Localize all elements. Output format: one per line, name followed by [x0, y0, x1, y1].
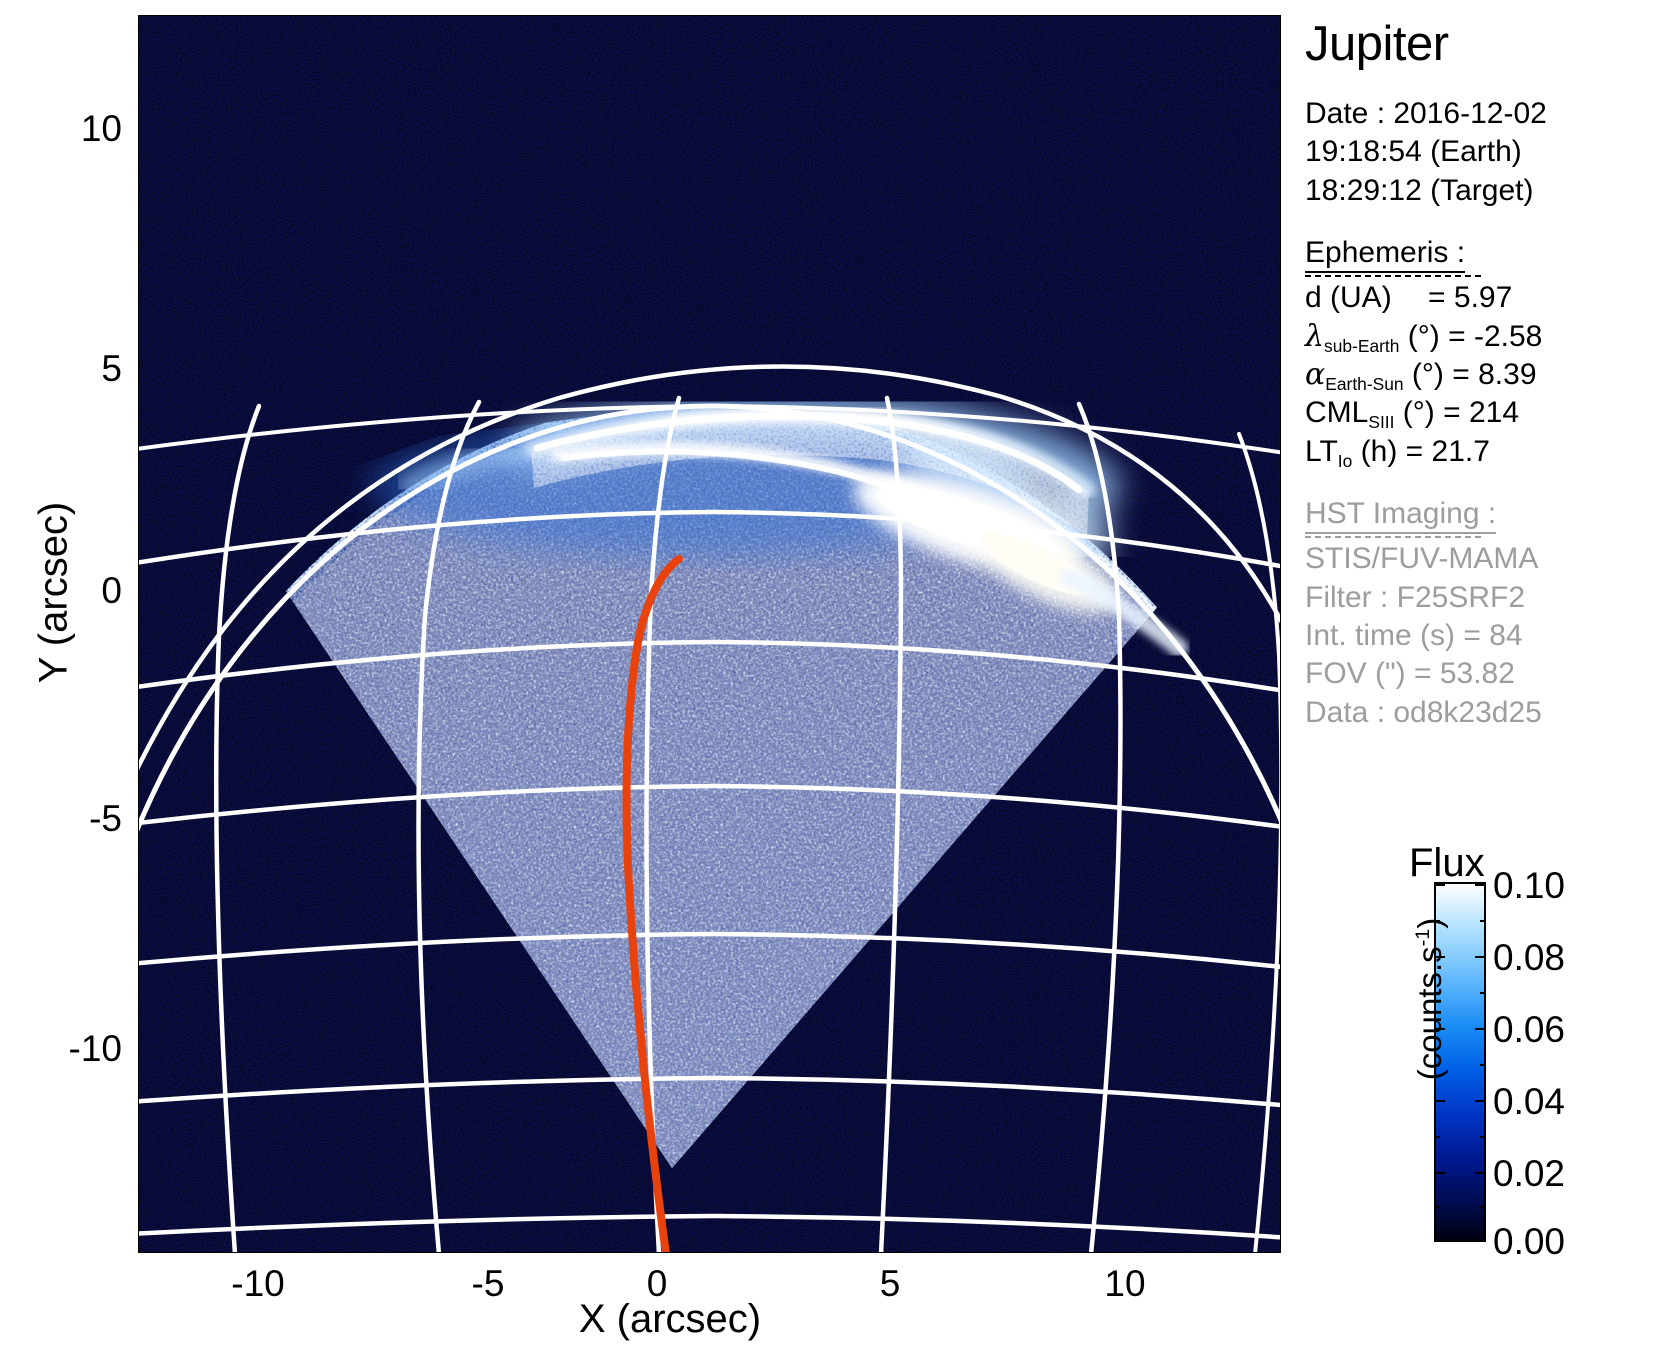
ephemeris-ltio-row: LTIo (h) = 21.7: [1305, 433, 1676, 471]
instrument-divider: [1305, 536, 1481, 538]
colorbar-label-0.06: 0.06: [1493, 1011, 1565, 1048]
y-tick-10: 10: [42, 110, 122, 147]
x-tick-10: 10: [1070, 1265, 1180, 1302]
ltio-unit: (h): [1361, 435, 1398, 468]
cml-value: 214: [1469, 396, 1519, 429]
ephemeris-alpha-row: αEarth-Sun (°) = 8.39: [1305, 356, 1676, 394]
y-tick-minus10: -10: [10, 1030, 122, 1067]
cml-symbol: CML: [1305, 396, 1368, 429]
image-plot-area: [138, 15, 1281, 1253]
colorbar-group: Flux 0.10 0.08 0.06 0.04 0.02 0.00 (coun…: [1297, 830, 1676, 1300]
alpha-unit: (°): [1412, 358, 1444, 391]
y-tick-minus5: -5: [22, 800, 122, 837]
ephemeris-block: Ephemeris : d (UA) = 5.97 λsub-Earth (°)…: [1297, 236, 1676, 471]
ephemeris-distance-symbol: d: [1305, 281, 1322, 314]
instrument-heading: HST Imaging :: [1305, 497, 1496, 534]
instrument-block: HST Imaging : STIS/FUV-MAMA Filter : F25…: [1297, 497, 1676, 732]
x-tick-5: 5: [845, 1265, 935, 1302]
instrument-detector: STIS/FUV-MAMA: [1305, 540, 1676, 578]
observation-time-earth: 19:18:54 (Earth): [1305, 133, 1676, 171]
ephemeris-distance-value: 5.97: [1454, 281, 1512, 314]
colorbar-label-0.02: 0.02: [1493, 1155, 1565, 1192]
instrument-filter: Filter : F25SRF2: [1305, 579, 1676, 617]
ephemeris-divider: [1305, 275, 1481, 277]
x-tick-minus10: -10: [198, 1265, 318, 1302]
ltio-subscript: Io: [1338, 451, 1353, 471]
lambda-subscript: sub-Earth: [1324, 336, 1399, 356]
colorbar-units-label: (counts.s-1): [1411, 849, 1449, 1149]
cml-unit: (°): [1403, 396, 1435, 429]
instrument-integration-time: Int. time (s) = 84: [1305, 617, 1676, 655]
cml-subscript: SIII: [1368, 412, 1394, 432]
ephemeris-heading: Ephemeris :: [1305, 236, 1465, 273]
instrument-fov: FOV (") = 53.82: [1305, 655, 1676, 693]
alpha-symbol: α: [1305, 357, 1325, 392]
observation-date: Date : 2016-12-02: [1305, 95, 1676, 133]
observation-time-target: 18:29:12 (Target): [1305, 172, 1676, 210]
ltio-symbol: LT: [1305, 435, 1338, 468]
x-axis-label: X (arcsec): [540, 1297, 800, 1342]
colorbar-label-0.08: 0.08: [1493, 939, 1565, 976]
ephemeris-cml-row: CMLSIII (°) = 214: [1305, 394, 1676, 432]
lambda-value: -2.58: [1474, 320, 1542, 353]
alpha-subscript: Earth-Sun: [1325, 374, 1403, 394]
colorbar-label-0.10: 0.10: [1493, 867, 1565, 904]
colorbar-label-0.00: 0.00: [1493, 1223, 1565, 1260]
instrument-dataset: Data : od8k23d25: [1305, 694, 1676, 732]
ltio-value: 21.7: [1432, 435, 1490, 468]
lambda-unit: (°): [1408, 320, 1440, 353]
x-tick-minus5: -5: [438, 1265, 538, 1302]
y-tick-5: 5: [42, 350, 122, 387]
ephemeris-distance-unit: (UA): [1330, 281, 1392, 314]
lambda-symbol: λ: [1305, 319, 1324, 354]
alpha-value: 8.39: [1478, 358, 1536, 391]
ephemeris-lambda-row: λsub-Earth (°) = -2.58: [1305, 318, 1676, 356]
observation-date-block: Date : 2016-12-02 19:18:54 (Earth) 18:29…: [1297, 95, 1676, 210]
colorbar-label-0.04: 0.04: [1493, 1083, 1565, 1120]
target-name-title: Jupiter: [1305, 20, 1676, 69]
sky-image-svg: [139, 16, 1281, 1253]
figure-root: Y (arcsec) 10 5 0 -5 -10 -10 -5 0 5 10 X…: [0, 0, 1676, 1367]
y-tick-0: 0: [42, 572, 122, 609]
ephemeris-distance-row: d (UA) = 5.97: [1305, 279, 1676, 317]
observation-info-panel: Jupiter Date : 2016-12-02 19:18:54 (Eart…: [1297, 0, 1676, 790]
